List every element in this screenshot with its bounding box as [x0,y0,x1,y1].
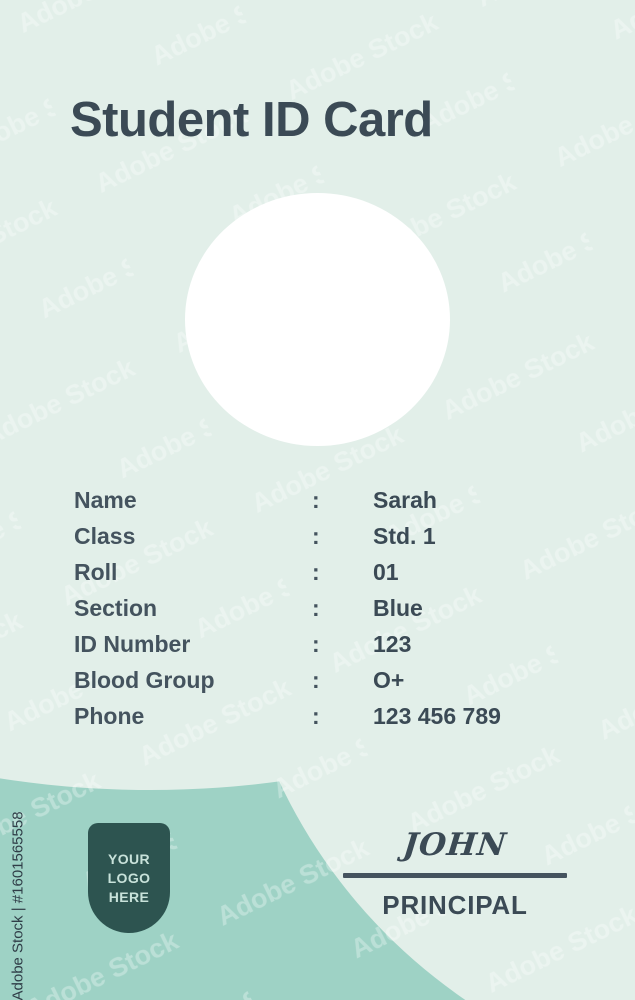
field-label-class: Class [74,523,312,550]
signature-name: JOHN [341,828,569,862]
signature-role: PRINCIPAL [343,890,567,921]
student-photo-placeholder [185,193,450,446]
field-label-roll: Roll [74,559,312,586]
field-separator: : [312,523,373,550]
field-label-section: Section [74,595,312,622]
table-row: Phone : 123 456 789 [74,703,574,739]
field-separator: : [312,595,373,622]
logo-text-line-3: HERE [109,889,150,905]
table-row: ID Number : 123 [74,631,574,667]
signature-divider [343,873,567,878]
logo-text-line-2: LOGO [108,870,151,886]
field-separator: : [312,631,373,658]
table-row: Roll : 01 [74,559,574,595]
logo-placeholder-badge: YOUR LOGO HERE [88,823,170,933]
field-value-phone: 123 456 789 [373,703,501,730]
field-value-name: Sarah [373,487,437,514]
student-info-table: Name : Sarah Class : Std. 1 Roll : 01 Se… [74,487,574,739]
field-value-id-number: 123 [373,631,411,658]
field-value-blood-group: O+ [373,667,404,694]
table-row: Class : Std. 1 [74,523,574,559]
page-title: Student ID Card [70,95,570,146]
field-label-blood-group: Blood Group [74,667,312,694]
logo-text-line-1: YOUR [108,851,150,867]
student-id-card: Adobe Stock Adobe Stock Student ID Card … [0,0,635,1000]
field-value-section: Blue [373,595,423,622]
table-row: Blood Group : O+ [74,667,574,703]
field-label-id-number: ID Number [74,631,312,658]
field-separator: : [312,703,373,730]
field-separator: : [312,667,373,694]
field-label-phone: Phone [74,703,312,730]
field-label-name: Name [74,487,312,514]
field-value-class: Std. 1 [373,523,436,550]
field-separator: : [312,487,373,514]
table-row: Name : Sarah [74,487,574,523]
field-separator: : [312,559,373,586]
table-row: Section : Blue [74,595,574,631]
signature-block: JOHN PRINCIPAL [343,828,567,921]
field-value-roll: 01 [373,559,399,586]
